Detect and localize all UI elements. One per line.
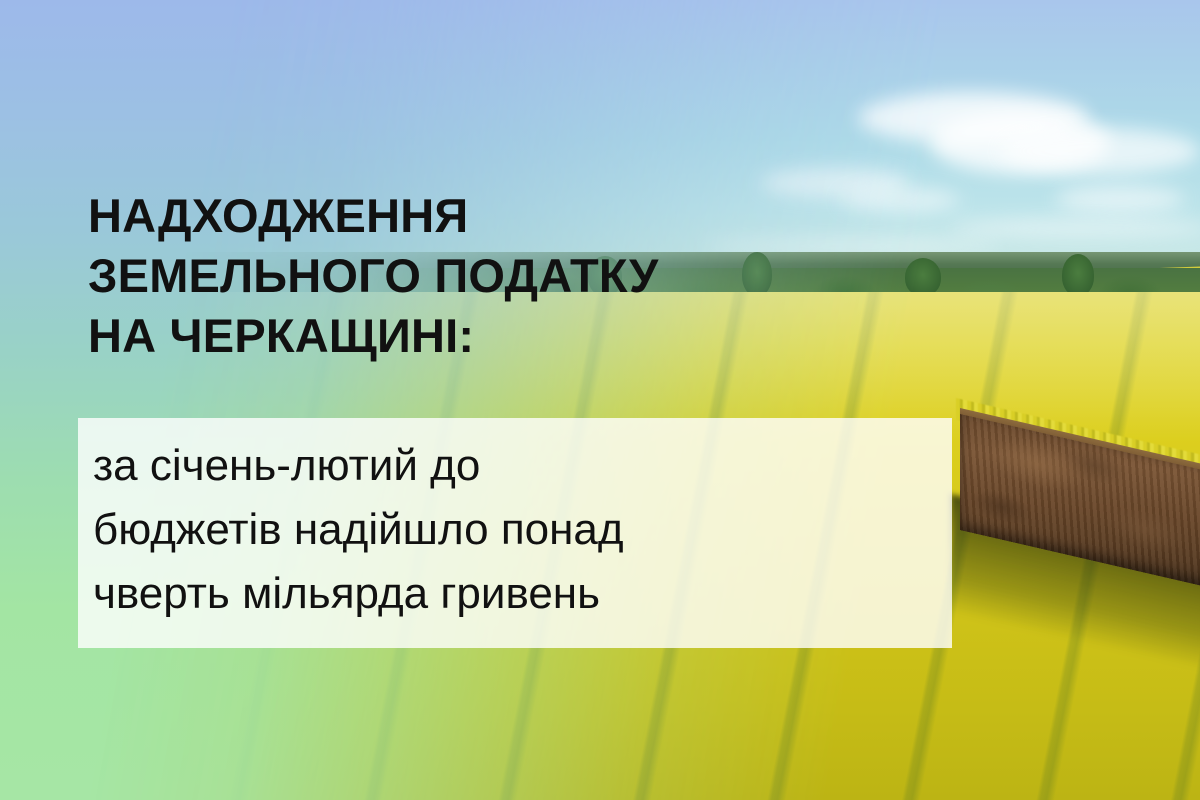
lifted-soil-block	[952, 408, 1200, 668]
tree-icon	[905, 258, 941, 296]
tree-icon	[1062, 254, 1094, 296]
infographic-banner: НАДХОДЖЕННЯ ЗЕМЕЛЬНОГО ПОДАТКУ НА ЧЕРКАЩ…	[0, 0, 1200, 800]
page-title: НАДХОДЖЕННЯ ЗЕМЕЛЬНОГО ПОДАТКУ НА ЧЕРКАЩ…	[88, 186, 658, 366]
cloud-icon	[1055, 186, 1185, 212]
tree-icon	[742, 252, 772, 296]
cloud-icon	[840, 188, 960, 212]
cloud-icon	[950, 218, 1200, 238]
blurb-text: за січень-лютий до бюджетів надійшло пон…	[93, 434, 943, 626]
cloud-icon	[1000, 128, 1200, 174]
field-photograph	[0, 0, 1200, 800]
